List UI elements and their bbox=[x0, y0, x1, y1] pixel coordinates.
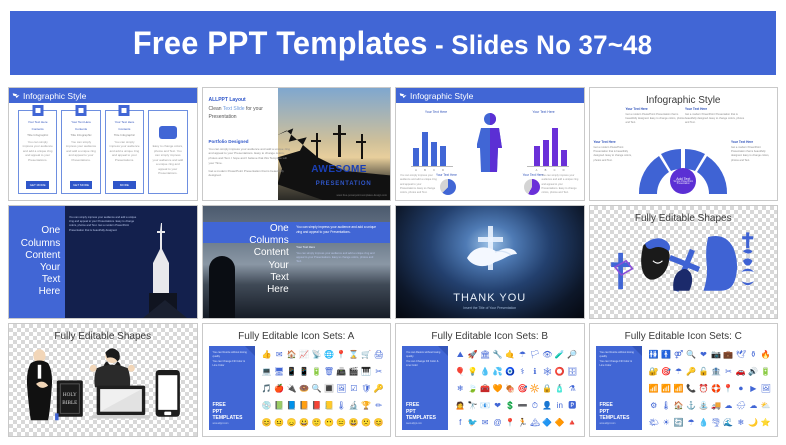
icon-glyph: ⏰ bbox=[699, 385, 709, 393]
small-symbols-column bbox=[741, 232, 754, 285]
bar bbox=[413, 148, 419, 166]
headline-panel: One Columns Content Your Text Here bbox=[9, 206, 65, 318]
card-button[interactable]: GET MORE bbox=[26, 181, 49, 189]
icon-glyph: 🍖 bbox=[505, 385, 515, 393]
slide-thumbnail-48[interactable]: Fully Editable Icon Sets: C You can Resi… bbox=[589, 323, 779, 437]
icon-glyph: 👤 bbox=[542, 402, 552, 410]
axis-line bbox=[411, 166, 453, 167]
panel-brand: FREE PPT TEMPLATES bbox=[600, 402, 638, 421]
icon-glyph: 📧 bbox=[480, 402, 490, 410]
bar-chart-right bbox=[534, 124, 567, 166]
icon-glyph: 🛟 bbox=[711, 385, 721, 393]
icon-glyph: 🏛 bbox=[480, 351, 490, 359]
preacher-icon bbox=[90, 348, 135, 387]
icon-glyph: 📍 bbox=[336, 351, 346, 359]
icon-glyph: 💦 bbox=[493, 368, 503, 376]
icon-glyph: 🔭 bbox=[468, 402, 478, 410]
page-title-main: Free PPT Templates bbox=[133, 25, 428, 61]
slide-title: Fully Editable Shapes bbox=[590, 213, 778, 224]
icon-glyph: ❤ bbox=[700, 351, 707, 359]
dove-icon bbox=[12, 91, 21, 100]
card-title: Your Text Here bbox=[71, 120, 91, 125]
icon-grid-b: ⛰🚀🏛🔧🤙☂🏳👁🧪🔎🎈💡💧💦🧿⚕ℹ🕸⭕🗄❄🍃🧰🧡🍖🎯🔆🔒🧴⚗🙍🔭📧❤💲➖⏱👤in… bbox=[454, 346, 579, 431]
icon-glyph: 🌊 bbox=[723, 419, 733, 427]
icon-glyph: ⚱ bbox=[750, 351, 757, 359]
icon-glyph: @ bbox=[494, 419, 502, 427]
icon-glyph: 🌐 bbox=[324, 351, 334, 359]
icon-glyph: 📕 bbox=[312, 402, 322, 410]
icon-glyph: ✉ bbox=[482, 419, 489, 427]
icon-glyph: 💧 bbox=[480, 368, 490, 376]
info-card[interactable]: Easy to change colors, photos and Text. … bbox=[148, 110, 187, 194]
icon-glyph: 🚀 bbox=[468, 351, 478, 359]
icon-glyph: 🌙 bbox=[748, 419, 758, 427]
pie-left-body: You can simply impress your audience and… bbox=[400, 174, 438, 195]
slide-thumbnail-44[interactable]: Fully Editable Shapes bbox=[589, 205, 779, 319]
icon-glyph: 🚻 bbox=[649, 351, 659, 359]
card-subtitle: Contents bbox=[118, 127, 130, 132]
icon-glyph: 🔺 bbox=[567, 419, 577, 427]
icon-glyph: 🖼 bbox=[761, 385, 771, 393]
info-card[interactable]: Your Text Here Contents Title Infographi… bbox=[18, 110, 57, 194]
icon-glyph: 👁 bbox=[542, 351, 552, 359]
icon-glyph: 🧪 bbox=[555, 351, 565, 359]
heading-line-2b: Text Slide bbox=[223, 106, 245, 112]
bar bbox=[552, 128, 558, 166]
page-title: Free PPT Templates - Slides No 37~48 bbox=[133, 25, 652, 62]
icon-glyph: 😊 bbox=[374, 419, 384, 427]
icon-glyph: 🌡 bbox=[336, 402, 346, 410]
icon-glyph: 👍 bbox=[262, 351, 272, 359]
icon-glyph: 📒 bbox=[324, 402, 334, 410]
icon-glyph: ⭕ bbox=[555, 368, 565, 376]
icon-glyph: 💲 bbox=[505, 402, 515, 410]
icon-glyph: 🙂 bbox=[312, 419, 322, 427]
icon-glyph: 🔷 bbox=[542, 419, 552, 427]
card-title: Your Text Here bbox=[115, 120, 135, 125]
icon-glyph: ⏱ bbox=[532, 402, 538, 410]
arc-note-body: Get a modern PowerPoint Presentation tha… bbox=[594, 146, 632, 161]
slide-title: Fully Editable Shapes bbox=[9, 331, 197, 342]
icon-glyph: 💧 bbox=[699, 419, 709, 427]
heading-line-3: Presentation bbox=[209, 114, 237, 120]
icon-glyph: ❄ bbox=[457, 385, 464, 393]
icon-glyph: 🔑 bbox=[686, 368, 696, 376]
religious-shapes-group bbox=[590, 226, 778, 301]
icon-glyph: 😶 bbox=[324, 419, 334, 427]
pie-chart-right bbox=[524, 179, 540, 195]
icon-glyph: 🔆 bbox=[530, 385, 540, 393]
icon-glyph: ☂ bbox=[687, 419, 694, 427]
icon-glyph: 🗄 bbox=[567, 368, 577, 376]
holy-bible-icon: HOLY BIBLE bbox=[55, 380, 83, 420]
cross-icon bbox=[611, 253, 632, 289]
icon-glyph: ❄ bbox=[738, 419, 745, 427]
slide-thumbnail-38[interactable]: AWESOME PRESENTATION www.free-powerpoint… bbox=[202, 87, 392, 201]
icon-glyph: 🧿 bbox=[505, 368, 515, 376]
icon-glyph: 🧰 bbox=[480, 385, 490, 393]
slide-header-bar: Infographic Style bbox=[9, 88, 197, 103]
arc-note-body: Get a modern PowerPoint Presentation tha… bbox=[731, 146, 769, 161]
slide-thumbnail-45[interactable]: Fully Editable Shapes HOLY BIBLE bbox=[8, 323, 198, 437]
slide-title: Fully Editable Icon Sets: B bbox=[396, 331, 584, 342]
chart-left-caption: Your Text Here bbox=[406, 110, 466, 114]
icon-glyph: 📗 bbox=[274, 402, 284, 410]
slide-thumbnail-37[interactable]: Infographic Style Your Text Here Content… bbox=[8, 87, 198, 201]
icon-glyph: 🌤 bbox=[649, 419, 659, 427]
icon-glyph: ⌛ bbox=[349, 351, 359, 359]
pie-left-caption: Your Text Here bbox=[436, 173, 457, 177]
jesus-head-icon bbox=[641, 238, 670, 279]
icon-glyph: 💡 bbox=[468, 368, 478, 376]
icon-glyph: 📶 bbox=[649, 385, 659, 393]
card-title: Your Text Here bbox=[28, 120, 48, 125]
bar bbox=[431, 142, 437, 166]
icon-glyph: ☑ bbox=[350, 385, 357, 393]
icon-grid-a: 👍✉🏠📈📡🌐📍⌛🛒🖨💻🖥📱📱🔋🗑📠🎬🎹✂🎵🍎🔌🍩🔍🔳🖼☑🛡🔑💿📗📘📙📕📒🌡🔬🏆✏… bbox=[261, 346, 386, 431]
speech-bubble-icon bbox=[159, 126, 177, 139]
icon-glyph: 🔌 bbox=[287, 385, 297, 393]
bible-label-line1: HOLY bbox=[63, 392, 77, 398]
icon-glyph: 🗑 bbox=[324, 368, 334, 376]
icon-glyph: 🔶 bbox=[555, 419, 565, 427]
icon-glyph: 🔬 bbox=[349, 402, 359, 410]
icon-glyph: 🔊 bbox=[748, 368, 758, 376]
icon-glyph: 🙁 bbox=[361, 419, 371, 427]
icon-glyph: ✂ bbox=[725, 368, 732, 376]
icon-glyph: 🏃 bbox=[517, 419, 527, 427]
icon-glyph: 💿 bbox=[262, 402, 272, 410]
slide41-headline: One Columns Content Your Text Here bbox=[21, 225, 60, 298]
panel-brand: FREE PPT TEMPLATES bbox=[213, 402, 251, 421]
slide-title: Fully Editable Icon Sets: A bbox=[203, 331, 391, 342]
icon-glyph: ⚓ bbox=[686, 402, 696, 410]
card-row: Your Text Here Contents Title Infographi… bbox=[18, 110, 188, 194]
icon-glyph: ☂ bbox=[675, 368, 682, 376]
church-steeple-icon bbox=[133, 223, 193, 318]
slide38-body-2: Get a modern PowerPoint Presentation tha… bbox=[209, 169, 292, 179]
icon-glyph: 🤙 bbox=[505, 351, 515, 359]
arc-note: Your Text Here Get a modern PowerPoint P… bbox=[594, 140, 636, 163]
icon-glyph: 🏠 bbox=[674, 402, 684, 410]
icon-glyph: 🔐 bbox=[649, 368, 659, 376]
watermark-url: www.free-powerpoint-templates-design.com bbox=[337, 194, 387, 197]
icon-glyph: 🚹 bbox=[661, 351, 671, 359]
card-button[interactable]: GET MORE bbox=[70, 181, 93, 189]
bar bbox=[422, 132, 428, 166]
arc-note-title: Your Text Here bbox=[594, 140, 636, 145]
icon-glyph: ⛅ bbox=[761, 402, 771, 410]
icon-glyph: 🛒 bbox=[361, 351, 371, 359]
icon-glyph: 🏦 bbox=[711, 368, 721, 376]
bar bbox=[561, 150, 567, 166]
icon-glyph: 🔥 bbox=[761, 351, 771, 359]
icon-glyph: 🔒 bbox=[542, 385, 552, 393]
icon-glyph: ✏ bbox=[375, 402, 382, 410]
icon-glyph: 📠 bbox=[336, 368, 346, 376]
dove-icon bbox=[399, 91, 408, 100]
corner-fold-icon bbox=[438, 346, 448, 356]
icon-glyph: ⭐ bbox=[761, 419, 771, 427]
icon-glyph: 🔋 bbox=[312, 368, 322, 376]
icon-glyph: 📙 bbox=[299, 402, 309, 410]
arc-note-body: Get a modern PowerPoint Presentation tha… bbox=[626, 113, 685, 124]
slide-thumbnail-47[interactable]: Fully Editable Icon Sets: B You can Resi… bbox=[395, 323, 585, 437]
card-body: Easy to change colors, photos and Text. … bbox=[152, 144, 183, 176]
icon-glyph: 🖨 bbox=[374, 351, 384, 359]
arc-note: Your Text Here Get a modern PowerPoint P… bbox=[685, 107, 747, 126]
slide38-body: You can simply impress your audience and… bbox=[209, 147, 292, 166]
slide-grid: Infographic Style Your Text Here Content… bbox=[8, 87, 778, 437]
icon-glyph: 🔑 bbox=[374, 385, 384, 393]
info-card[interactable]: Your Text Here Contents Title Infographi… bbox=[61, 110, 100, 194]
person-silhouette-icon bbox=[477, 112, 503, 174]
card-body: You can simply impress your audience and… bbox=[109, 140, 140, 163]
slide42-body: You can simply impress your audience and… bbox=[296, 252, 379, 265]
arc-note: Your Text Here Get a modern PowerPoint P… bbox=[626, 107, 688, 126]
icon-glyph: 🎬 bbox=[349, 368, 359, 376]
dove-and-cross-icon bbox=[455, 224, 525, 286]
icon-glyph: 😐 bbox=[274, 419, 284, 427]
arc-hub-sub: Simple PowerPoint Presentation bbox=[670, 181, 696, 185]
overlay-subtitle: PRESENTATION bbox=[316, 181, 372, 187]
icon-glyph: 🧡 bbox=[493, 385, 503, 393]
arc-note-title: Your Text Here bbox=[685, 107, 747, 112]
axis-line bbox=[527, 166, 569, 167]
panel-url: www.allppt.com bbox=[406, 423, 444, 425]
bar-labels-left: ABCD bbox=[413, 169, 446, 172]
icon-glyph: 🌡 bbox=[661, 402, 671, 410]
icon-glyph: 😑 bbox=[336, 419, 346, 427]
icon-set-panel: You can Resize without losing quality Yo… bbox=[402, 346, 448, 430]
icon-glyph: ⚕ bbox=[520, 368, 524, 376]
icon-glyph: 🚗 bbox=[736, 368, 746, 376]
corner-fold-icon bbox=[245, 346, 255, 356]
card-subtitle: Contents bbox=[32, 127, 44, 132]
slide-header-title: Infographic Style bbox=[410, 91, 473, 101]
slide-title: Infographic Style bbox=[590, 95, 778, 106]
smartphone-icon bbox=[156, 370, 180, 417]
laptop-icon bbox=[91, 386, 150, 419]
icon-glyph: 📶 bbox=[661, 385, 671, 393]
icon-glyph: 📱 bbox=[299, 368, 309, 376]
heading-line-1: ALLPPT Layout bbox=[209, 97, 246, 103]
icon-glyph: 📍 bbox=[723, 385, 733, 393]
slide42-banner-text: You can simply impress your audience and… bbox=[296, 225, 379, 235]
icon-glyph: 🔍 bbox=[686, 351, 696, 359]
bar-labels-right: ABCD bbox=[534, 169, 567, 172]
slide42-headline: One Columns Content Your Text Here bbox=[214, 223, 289, 296]
icon-glyph: 🏠 bbox=[287, 351, 297, 359]
icon-glyph: 🍃 bbox=[468, 385, 478, 393]
panel-brand: FREE PPT TEMPLATES bbox=[406, 402, 444, 421]
icon-glyph: 🙍 bbox=[455, 402, 465, 410]
icon-glyph: 🔋 bbox=[761, 368, 771, 376]
icon-glyph: 📷 bbox=[711, 351, 721, 359]
chart-right-caption: Your Text Here bbox=[514, 110, 574, 114]
icon-glyph: 🚚 bbox=[711, 402, 721, 410]
icon-glyph: 📞 bbox=[686, 385, 696, 393]
icon-glyph: 🌪 bbox=[711, 419, 721, 427]
slide-thumbnail-40[interactable]: Infographic Style Add Text Simple PowerP… bbox=[589, 87, 779, 201]
corner-fold-icon bbox=[632, 346, 642, 356]
priest-icon bbox=[27, 349, 52, 420]
icon-glyph: ✉ bbox=[276, 351, 283, 359]
bar bbox=[534, 146, 540, 166]
icon-glyph: 🔧 bbox=[493, 351, 503, 359]
overlay-title: AWESOME bbox=[311, 164, 367, 175]
slide-title: Fully Editable Icon Sets: C bbox=[590, 331, 778, 342]
card-button[interactable]: MORE bbox=[113, 181, 136, 189]
icon-glyph: 📱 bbox=[287, 368, 297, 376]
crosses-photo: AWESOME PRESENTATION www.free-powerpoint… bbox=[278, 88, 391, 200]
icon-grid-c: 🚻🚹⚤🔍❤📷💼🕊⚱🔥🔐🎯☂🔑🔓🏦✂🚗🔊🔋📶📶📶📞⏰🛟📍⏺▶🖼⚙🌡🏠⚓⛲🚚☁🌧☁⛅… bbox=[648, 346, 773, 431]
card-small: Title Infographic bbox=[114, 133, 135, 138]
icon-glyph: 📈 bbox=[299, 351, 309, 359]
square-icon bbox=[32, 105, 43, 116]
card-small: Title Infographic bbox=[70, 133, 91, 138]
icon-glyph: ⚤ bbox=[674, 351, 683, 359]
pie-right-body: You can simply impress your audience and… bbox=[542, 174, 580, 195]
save-icon bbox=[119, 105, 130, 116]
icon-glyph: 🕊 bbox=[736, 351, 746, 359]
bar bbox=[543, 140, 549, 166]
icon-glyph: 🔄 bbox=[674, 419, 684, 427]
bar-chart-left bbox=[413, 124, 446, 166]
arc-note: Your Text Here Get a modern PowerPoint P… bbox=[731, 140, 773, 163]
slide-thumbnail-43[interactable]: THANK YOU Insert the Title of Your Prese… bbox=[395, 205, 585, 319]
icon-glyph: 🎈 bbox=[455, 368, 465, 376]
people-and-devices-group: HOLY BIBLE bbox=[9, 344, 197, 422]
icon-glyph: 😞 bbox=[287, 419, 297, 427]
heading-line-2a: Clean bbox=[209, 106, 223, 112]
pie-right-caption: Your Text Here bbox=[523, 173, 544, 177]
icon-glyph: 🍩 bbox=[299, 385, 309, 393]
slide-thumbnail-42[interactable]: One Columns Content Your Text Here You c… bbox=[202, 205, 392, 319]
slide42-body-title: Your Text Here bbox=[296, 246, 379, 250]
icon-glyph: 😃 bbox=[349, 419, 359, 427]
slide38-subheading: Portfolio Designed bbox=[209, 139, 292, 144]
icon-glyph: 🧴 bbox=[555, 385, 565, 393]
icon-glyph: ✂ bbox=[375, 368, 382, 376]
icon-glyph: 🐦 bbox=[468, 419, 478, 427]
icon-glyph: ⛰ bbox=[457, 351, 464, 359]
thank-you-title: THANK YOU bbox=[396, 292, 584, 304]
info-card[interactable]: Your Text Here Contents Title Infographi… bbox=[105, 110, 144, 194]
jesus-profile-icon bbox=[703, 236, 737, 291]
icon-glyph: 🎯 bbox=[517, 385, 527, 393]
panel-url: www.allppt.com bbox=[600, 423, 638, 425]
icon-glyph: ➖ bbox=[517, 402, 527, 410]
slide-thumbnail-41[interactable]: One Columns Content Your Text Here You c… bbox=[8, 205, 198, 319]
icon-glyph: ⚙ bbox=[650, 402, 657, 410]
icon-glyph: 📍 bbox=[505, 419, 515, 427]
icon-glyph: 🅿 bbox=[568, 402, 576, 410]
icon-glyph: ⏺ bbox=[739, 385, 743, 393]
icon-glyph: ℹ bbox=[533, 368, 536, 376]
icon-glyph: 🏔 bbox=[530, 419, 540, 427]
icon-glyph: 🎵 bbox=[262, 385, 272, 393]
icon-glyph: 🔳 bbox=[324, 385, 334, 393]
bible-label-line2: BIBLE bbox=[62, 400, 77, 406]
slide41-body: You can simply impress your audience and… bbox=[69, 216, 137, 233]
card-small: Title Infographic bbox=[27, 133, 48, 138]
slide-header-bar: Infographic Style bbox=[396, 88, 584, 103]
gear-icon bbox=[76, 105, 87, 116]
arc-diagram: Add Text Simple PowerPoint Presentation bbox=[635, 138, 731, 196]
icon-glyph: 🍎 bbox=[274, 385, 284, 393]
icon-glyph: 😀 bbox=[299, 419, 309, 427]
card-body: You can simply impress your audience and… bbox=[22, 140, 53, 163]
icon-glyph: f bbox=[459, 419, 461, 427]
icon-glyph: 🕸 bbox=[542, 368, 552, 376]
icon-glyph: ☁ bbox=[749, 402, 757, 410]
slide38-heading: ALLPPT Layout Clean Text Slide for your … bbox=[209, 96, 292, 122]
pie-chart-left bbox=[440, 179, 456, 195]
icon-glyph: 📶 bbox=[674, 385, 684, 393]
page-title-suffix: - Slides No 37~48 bbox=[428, 30, 653, 60]
arc-note-title: Your Text Here bbox=[731, 140, 773, 145]
panel-url: www.allppt.com bbox=[213, 423, 251, 425]
icon-glyph: 🔍 bbox=[312, 385, 322, 393]
thank-you-subtitle: Insert the Title of Your Presentation bbox=[396, 306, 584, 310]
slide-thumbnail-39[interactable]: Infographic Style Your Text Here ABCD Yo… bbox=[395, 87, 585, 201]
icon-glyph: 📘 bbox=[287, 402, 297, 410]
slide-thumbnail-46[interactable]: Fully Editable Icon Sets: A You can Resi… bbox=[202, 323, 392, 437]
icon-glyph: 🌧 bbox=[736, 402, 746, 410]
icon-glyph: 🔓 bbox=[699, 368, 709, 376]
icon-set-panel: You can Resize without losing quality Yo… bbox=[596, 346, 642, 430]
icon-glyph: ☂ bbox=[519, 351, 526, 359]
arc-hub: Add Text Simple PowerPoint Presentation bbox=[670, 168, 696, 194]
card-body: You can simply impress your audience and… bbox=[65, 140, 96, 163]
slide-header-title: Infographic Style bbox=[23, 91, 86, 101]
icon-glyph: ▶ bbox=[750, 385, 756, 393]
cross-carry-icon bbox=[668, 249, 699, 292]
slide38-text-block: ALLPPT Layout Clean Text Slide for your … bbox=[209, 96, 292, 178]
icon-glyph: in bbox=[557, 402, 563, 410]
icon-glyph: ☀ bbox=[663, 419, 670, 427]
icon-glyph: 🖥 bbox=[274, 368, 284, 376]
card-subtitle: Contents bbox=[75, 127, 87, 132]
icon-glyph: ❤ bbox=[494, 402, 501, 410]
icon-glyph: 📡 bbox=[312, 351, 322, 359]
page-banner: Free PPT Templates - Slides No 37~48 bbox=[10, 11, 776, 75]
arc-note-body: Get a modern PowerPoint Presentation tha… bbox=[685, 113, 744, 124]
bar bbox=[440, 146, 446, 166]
icon-glyph: 🎯 bbox=[661, 368, 671, 376]
heading-line-2c: for your bbox=[245, 106, 263, 112]
icon-glyph: 🎹 bbox=[361, 368, 371, 376]
icon-glyph: ⚗ bbox=[569, 385, 576, 393]
arc-note-title: Your Text Here bbox=[626, 107, 688, 112]
icon-glyph: 😊 bbox=[262, 419, 272, 427]
icon-glyph: ⛲ bbox=[699, 402, 709, 410]
icon-glyph: 💻 bbox=[262, 368, 272, 376]
icon-glyph: 🛡 bbox=[361, 385, 371, 393]
icon-glyph: 🖼 bbox=[336, 385, 346, 393]
icon-glyph: 🔎 bbox=[567, 351, 577, 359]
templates-gallery-page: Free PPT Templates - Slides No 37~48 Inf… bbox=[0, 0, 786, 445]
icon-glyph: 🏳 bbox=[530, 351, 540, 359]
icon-glyph: 💼 bbox=[723, 351, 733, 359]
icon-glyph: ☁ bbox=[724, 402, 732, 410]
icon-glyph: 🏆 bbox=[361, 402, 371, 410]
icon-set-panel: You can Resize without losing quality Yo… bbox=[209, 346, 255, 430]
